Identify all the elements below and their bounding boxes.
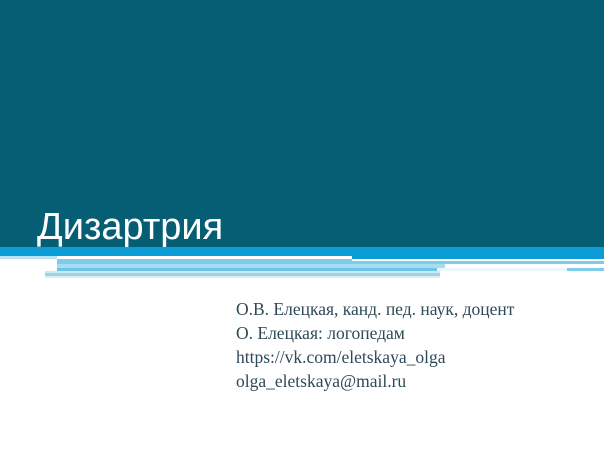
stripe-band-1-gap [352, 259, 604, 261]
subtitle-line-url: https://vk.com/eletskaya_olga [236, 345, 586, 369]
subtitle-line-group: О. Елецкая: логопедам [236, 321, 586, 345]
stripe-band-6 [45, 276, 440, 278]
subtitle-line-email: olga_eletskaya@mail.ru [236, 369, 586, 393]
stripe-band-3-right [437, 268, 567, 271]
slide-canvas: Дизартрия О.В. Елецкая, канд. пед. наук,… [0, 0, 604, 453]
accent-bar-left-fade [0, 256, 57, 259]
subtitle-block: О.В. Елецкая, канд. пед. наук, доцент О.… [236, 297, 586, 393]
page-title: Дизартрия [37, 205, 223, 249]
subtitle-line-author: О.В. Елецкая, канд. пед. наук, доцент [236, 297, 586, 321]
accent-bar-primary [0, 247, 604, 256]
decorative-stripes [0, 247, 604, 283]
stripe-band-3-far-right [567, 268, 604, 271]
